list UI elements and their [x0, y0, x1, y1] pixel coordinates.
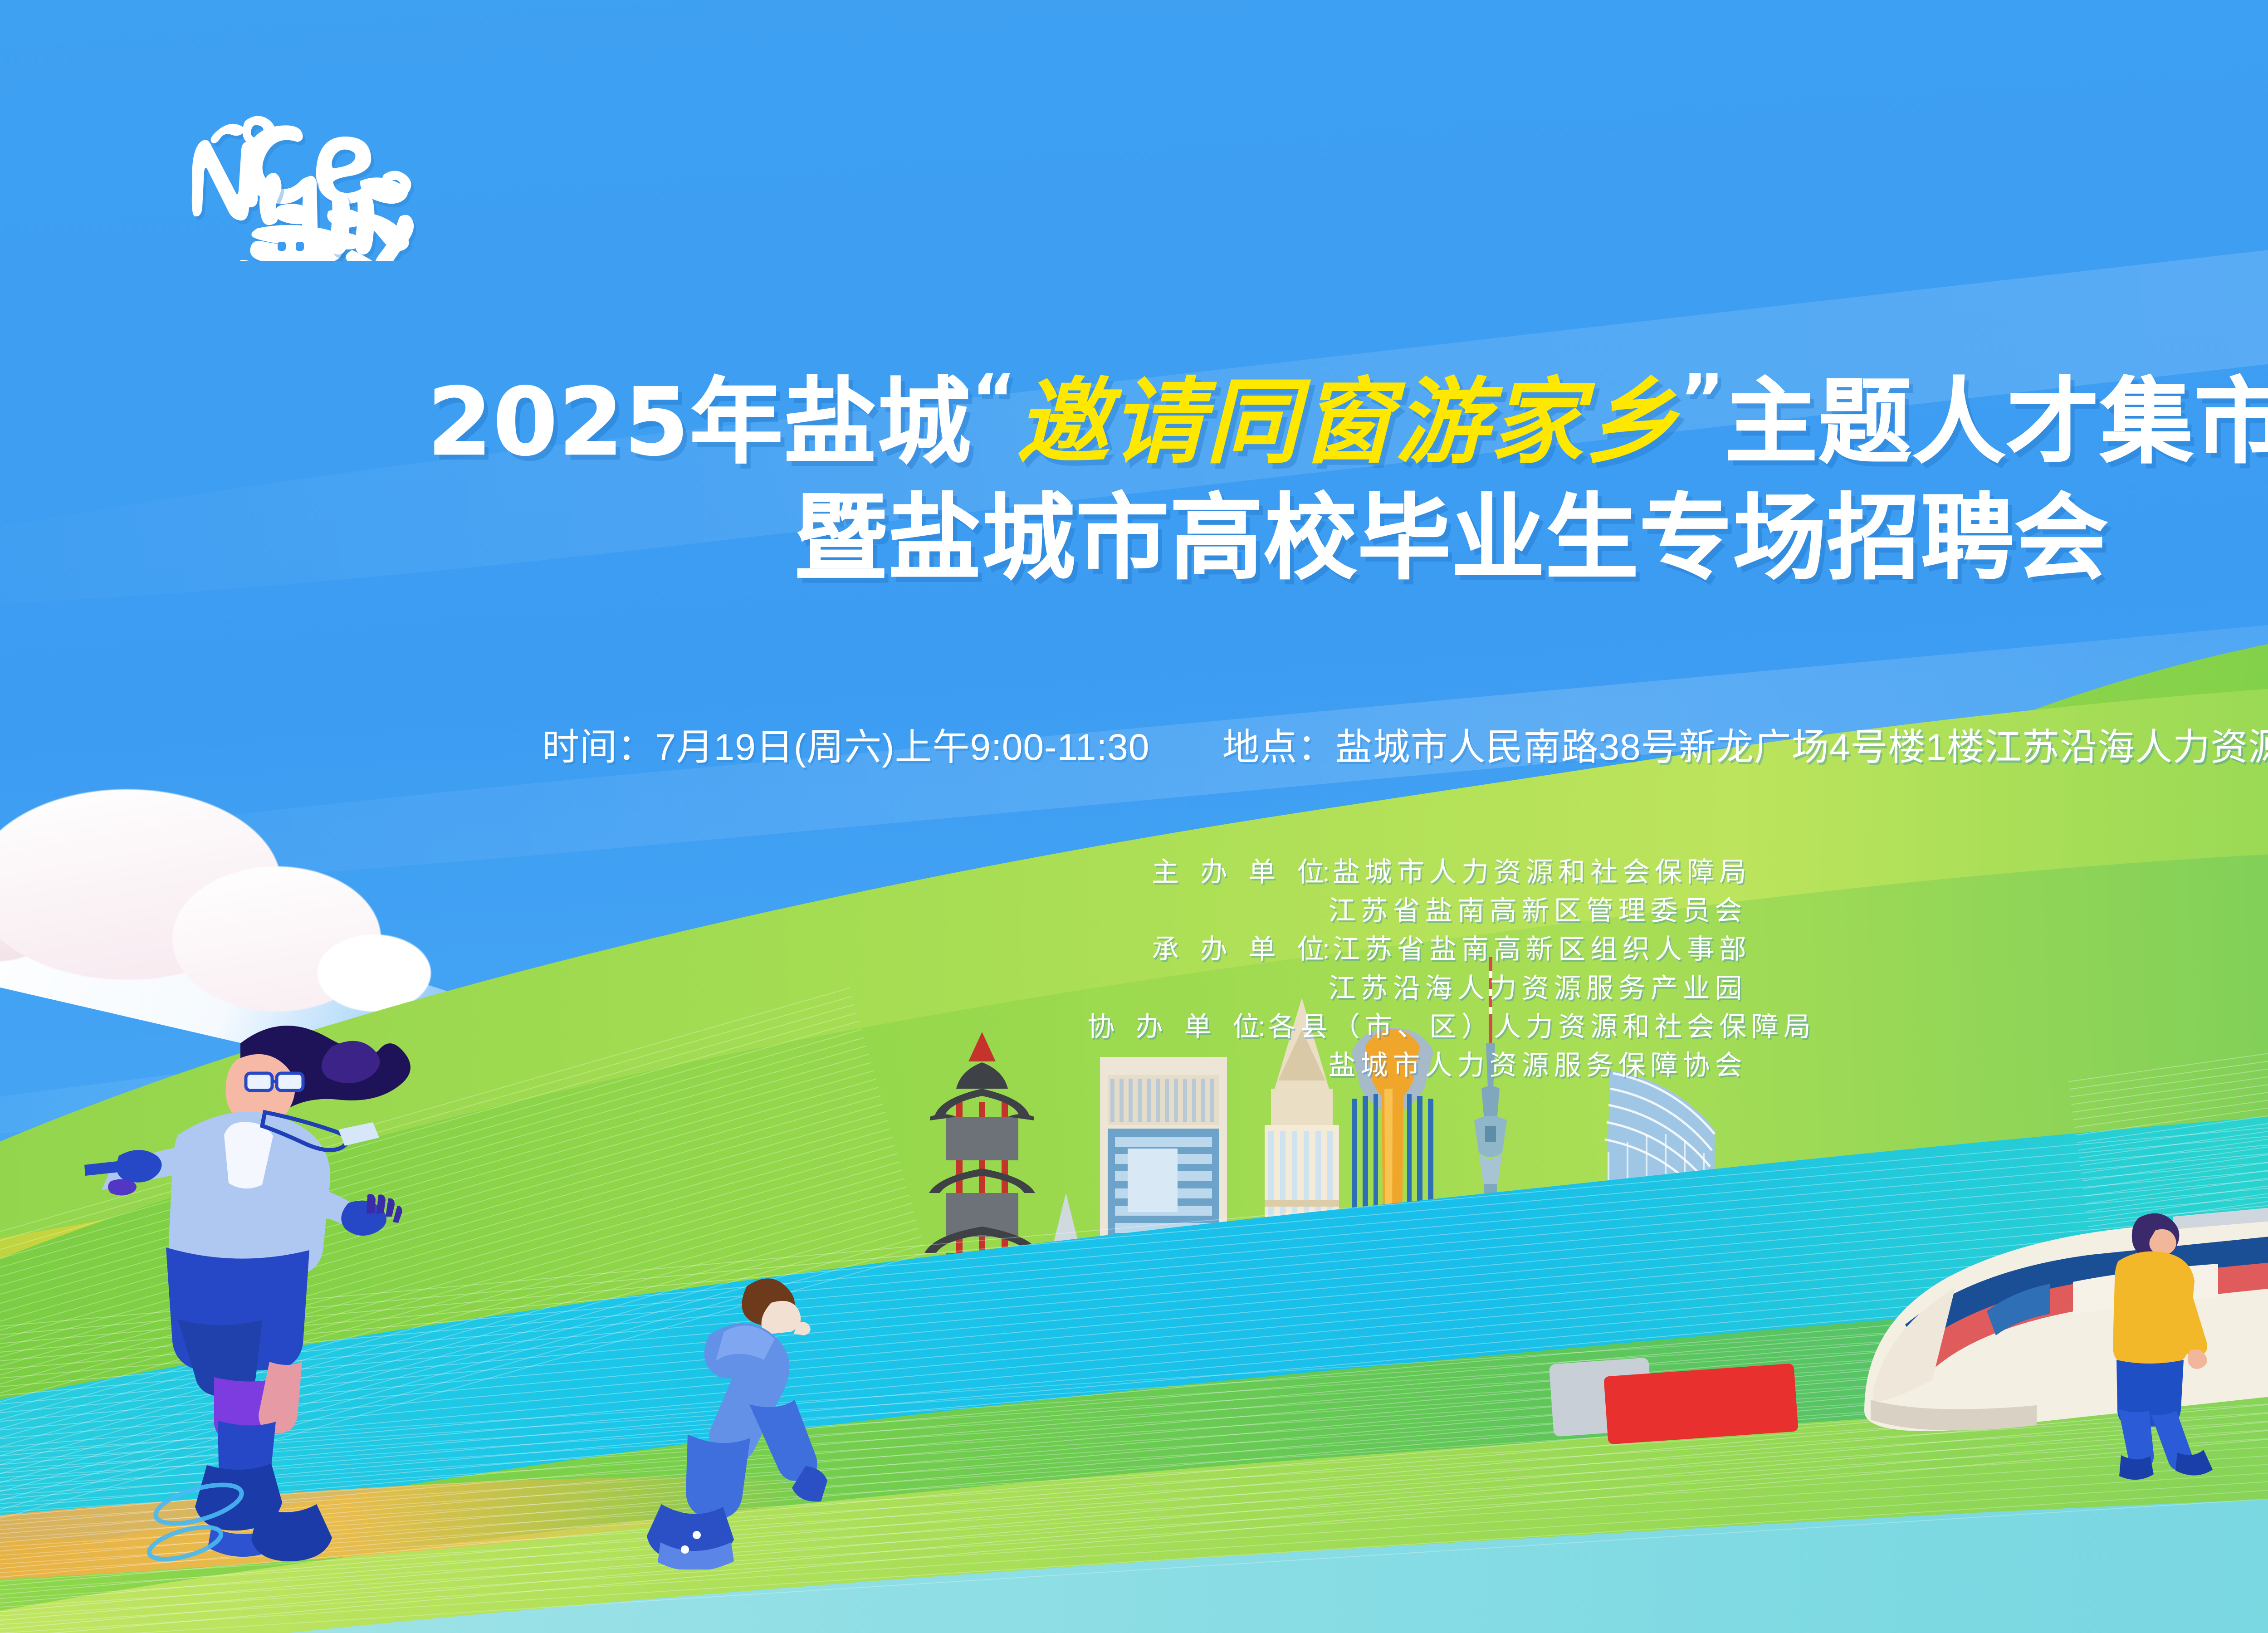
organizer-label-host: 主办单位	[1152, 853, 1324, 891]
runner-yellow-jacket-icon	[2050, 1188, 2245, 1483]
time-value: 7月19日(周六)上午9:00-11:30	[655, 727, 1149, 768]
place-value: 盐城市人民南路38号新龙广场4号楼1楼江苏沿海人力资源市场	[1335, 727, 2268, 768]
headline: 2025年盐城“邀请同窗游家乡”主题人才集市活动 暨盐城市高校毕业生专场招聘会	[0, 363, 2268, 589]
organizer-row-organizer-2: 江苏沿海人力资源服务产业园	[1156, 969, 1747, 1007]
headline-part-0: 2025年盐城	[427, 368, 972, 476]
event-details: 时间：7月19日(周六)上午9:00-11:30地点：盐城市人民南路38号新龙广…	[0, 717, 2268, 771]
headline-quote-open: “	[972, 360, 1017, 439]
headline-theme-yellow: 邀请同窗游家乡	[1016, 367, 1680, 476]
time-label: 时间：	[542, 727, 655, 768]
organizer-row-coorganizer-2: 盐城市人力资源服务保障协会	[1156, 1046, 1747, 1085]
organizer-value-organizer-0: 江苏省盐南高新区组织人事部	[1333, 930, 1751, 968]
place-label: 地点：	[1222, 727, 1335, 768]
organizer-list: 主办单位 : 盐城市人力资源和社会保障局 江苏省盐南高新区管理委员会 承办单位 …	[0, 853, 2268, 1085]
organizer-row-host-2: 江苏省盐南高新区管理委员会	[1156, 891, 1747, 930]
runner-blue-icon	[617, 1243, 853, 1569]
headline-part-4: 主题人才集市活动	[1725, 368, 2268, 476]
organizer-label-coorganizer: 协办单位	[1087, 1007, 1260, 1046]
organizer-value-host-1: 江苏省盐南高新区管理委员会	[1329, 891, 1747, 930]
organizer-value-coorganizer-0: 各县（市、区）人力资源和社会保障局	[1268, 1007, 1816, 1046]
organizer-row-host: 主办单位 : 盐城市人力资源和社会保障局	[1152, 853, 1751, 891]
organizer-value-organizer-1: 江苏沿海人力资源服务产业园	[1329, 969, 1747, 1007]
organizer-row-coorganizer: 协办单位 : 各县（市、区）人力资源和社会保障局	[1087, 1007, 1816, 1046]
organizer-value-host-0: 盐城市人力资源和社会保障局	[1333, 853, 1751, 891]
headline-quote-close: ”	[1680, 360, 1725, 439]
platform-red-bar	[1603, 1364, 1798, 1445]
headline-line-2: 暨盐城市高校毕业生专场招聘会	[0, 489, 2268, 589]
organizer-label-organizer: 承办单位	[1152, 930, 1324, 968]
event-poster: 盐城	[0, 0, 2268, 1633]
nice-yancheng-logo	[177, 98, 431, 261]
headline-line-1: 2025年盐城“邀请同窗游家乡”主题人才集市活动	[0, 363, 2268, 473]
organizer-value-coorganizer-1: 盐城市人力资源服务保障协会	[1329, 1046, 1747, 1085]
organizer-row-organizer: 承办单位 : 江苏省盐南高新区组织人事部	[1152, 930, 1751, 968]
